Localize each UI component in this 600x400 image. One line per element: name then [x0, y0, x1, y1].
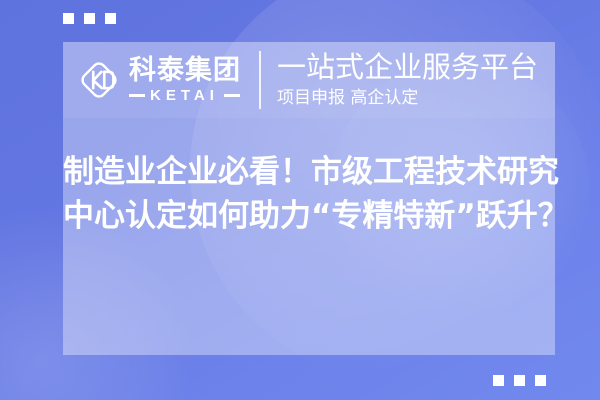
brand-name-en: KETAI — [150, 88, 219, 103]
decor-square-icon — [105, 13, 116, 24]
tagline-secondary: 项目申报 高企认定 — [277, 88, 555, 108]
brand-divider — [259, 51, 261, 109]
brand-wordmark: 科泰集团 KETAI — [129, 57, 241, 103]
brand-name-cn: 科泰集团 — [129, 57, 241, 85]
wordmark-rule-left — [129, 94, 145, 97]
decor-square-icon — [514, 375, 525, 386]
tagline-block: 一站式企业服务平台 项目申报 高企认定 — [277, 52, 555, 108]
decorative-dots-top-left — [63, 13, 116, 24]
ketai-diamond-kd-monogram-icon — [75, 56, 123, 104]
decorative-dots-bottom-right — [493, 375, 546, 386]
decor-square-icon — [493, 375, 504, 386]
headline-title: 制造业企业必看！市级工程技术研究中心认定如何助力“专精特新”跃升？ — [63, 150, 573, 238]
brand-name-en-row: KETAI — [129, 88, 241, 103]
wordmark-rule-right — [224, 94, 240, 97]
promo-banner: 科泰集团 KETAI 一站式企业服务平台 项目申报 高企认定 制造业企业必看！市… — [0, 0, 600, 400]
decor-square-icon — [63, 13, 74, 24]
decor-square-icon — [84, 13, 95, 24]
decor-square-icon — [535, 375, 546, 386]
brand-lockup: 科泰集团 KETAI 一站式企业服务平台 项目申报 高企认定 — [63, 42, 555, 118]
tagline-primary: 一站式企业服务平台 — [277, 52, 555, 84]
